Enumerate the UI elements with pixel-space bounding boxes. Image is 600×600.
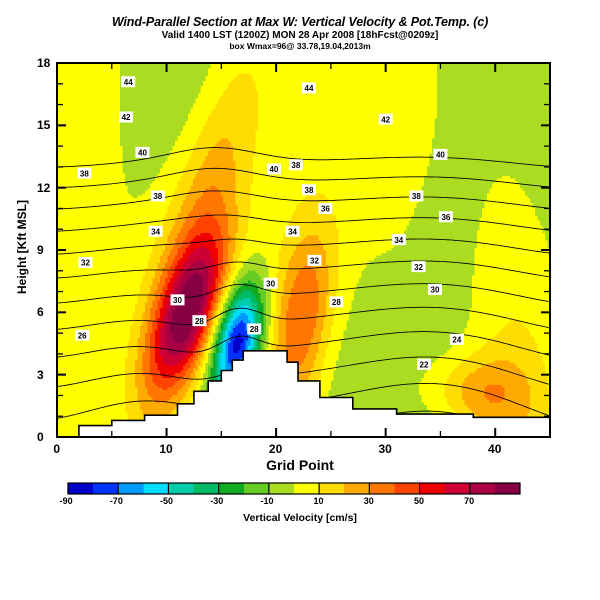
colorbar[interactable]	[68, 483, 521, 494]
y-tick-0: 0	[37, 430, 44, 444]
y-tick-3: 3	[37, 368, 44, 382]
colorbar-tick-50: 50	[414, 496, 424, 506]
x-tick-30: 30	[378, 442, 391, 456]
colorbar-tick--90: -90	[60, 496, 73, 506]
x-tick-10: 10	[159, 442, 172, 456]
colorbar-tick-30: 30	[364, 496, 374, 506]
colorbar-tick--10: -10	[260, 496, 273, 506]
colorbar-tick-10: 10	[314, 496, 324, 506]
x-tick-40: 40	[488, 442, 501, 456]
y-tick-12: 12	[37, 181, 50, 195]
figure-canvas: Wind-Parallel Section at Max W: Vertical…	[0, 0, 600, 600]
y-tick-6: 6	[37, 305, 44, 319]
y-tick-9: 9	[37, 243, 44, 257]
colorbar-tick--50: -50	[160, 496, 173, 506]
colorbar-tick--30: -30	[210, 496, 223, 506]
cross-section-plot: 4444424240404038383838383636343434323232…	[0, 0, 600, 600]
colorbar-tick--70: -70	[110, 496, 123, 506]
colorbar-tick-70: 70	[464, 496, 474, 506]
x-tick-0: 0	[53, 442, 60, 456]
y-tick-15: 15	[37, 118, 50, 132]
x-tick-20: 20	[269, 442, 282, 456]
y-tick-18: 18	[37, 56, 50, 70]
